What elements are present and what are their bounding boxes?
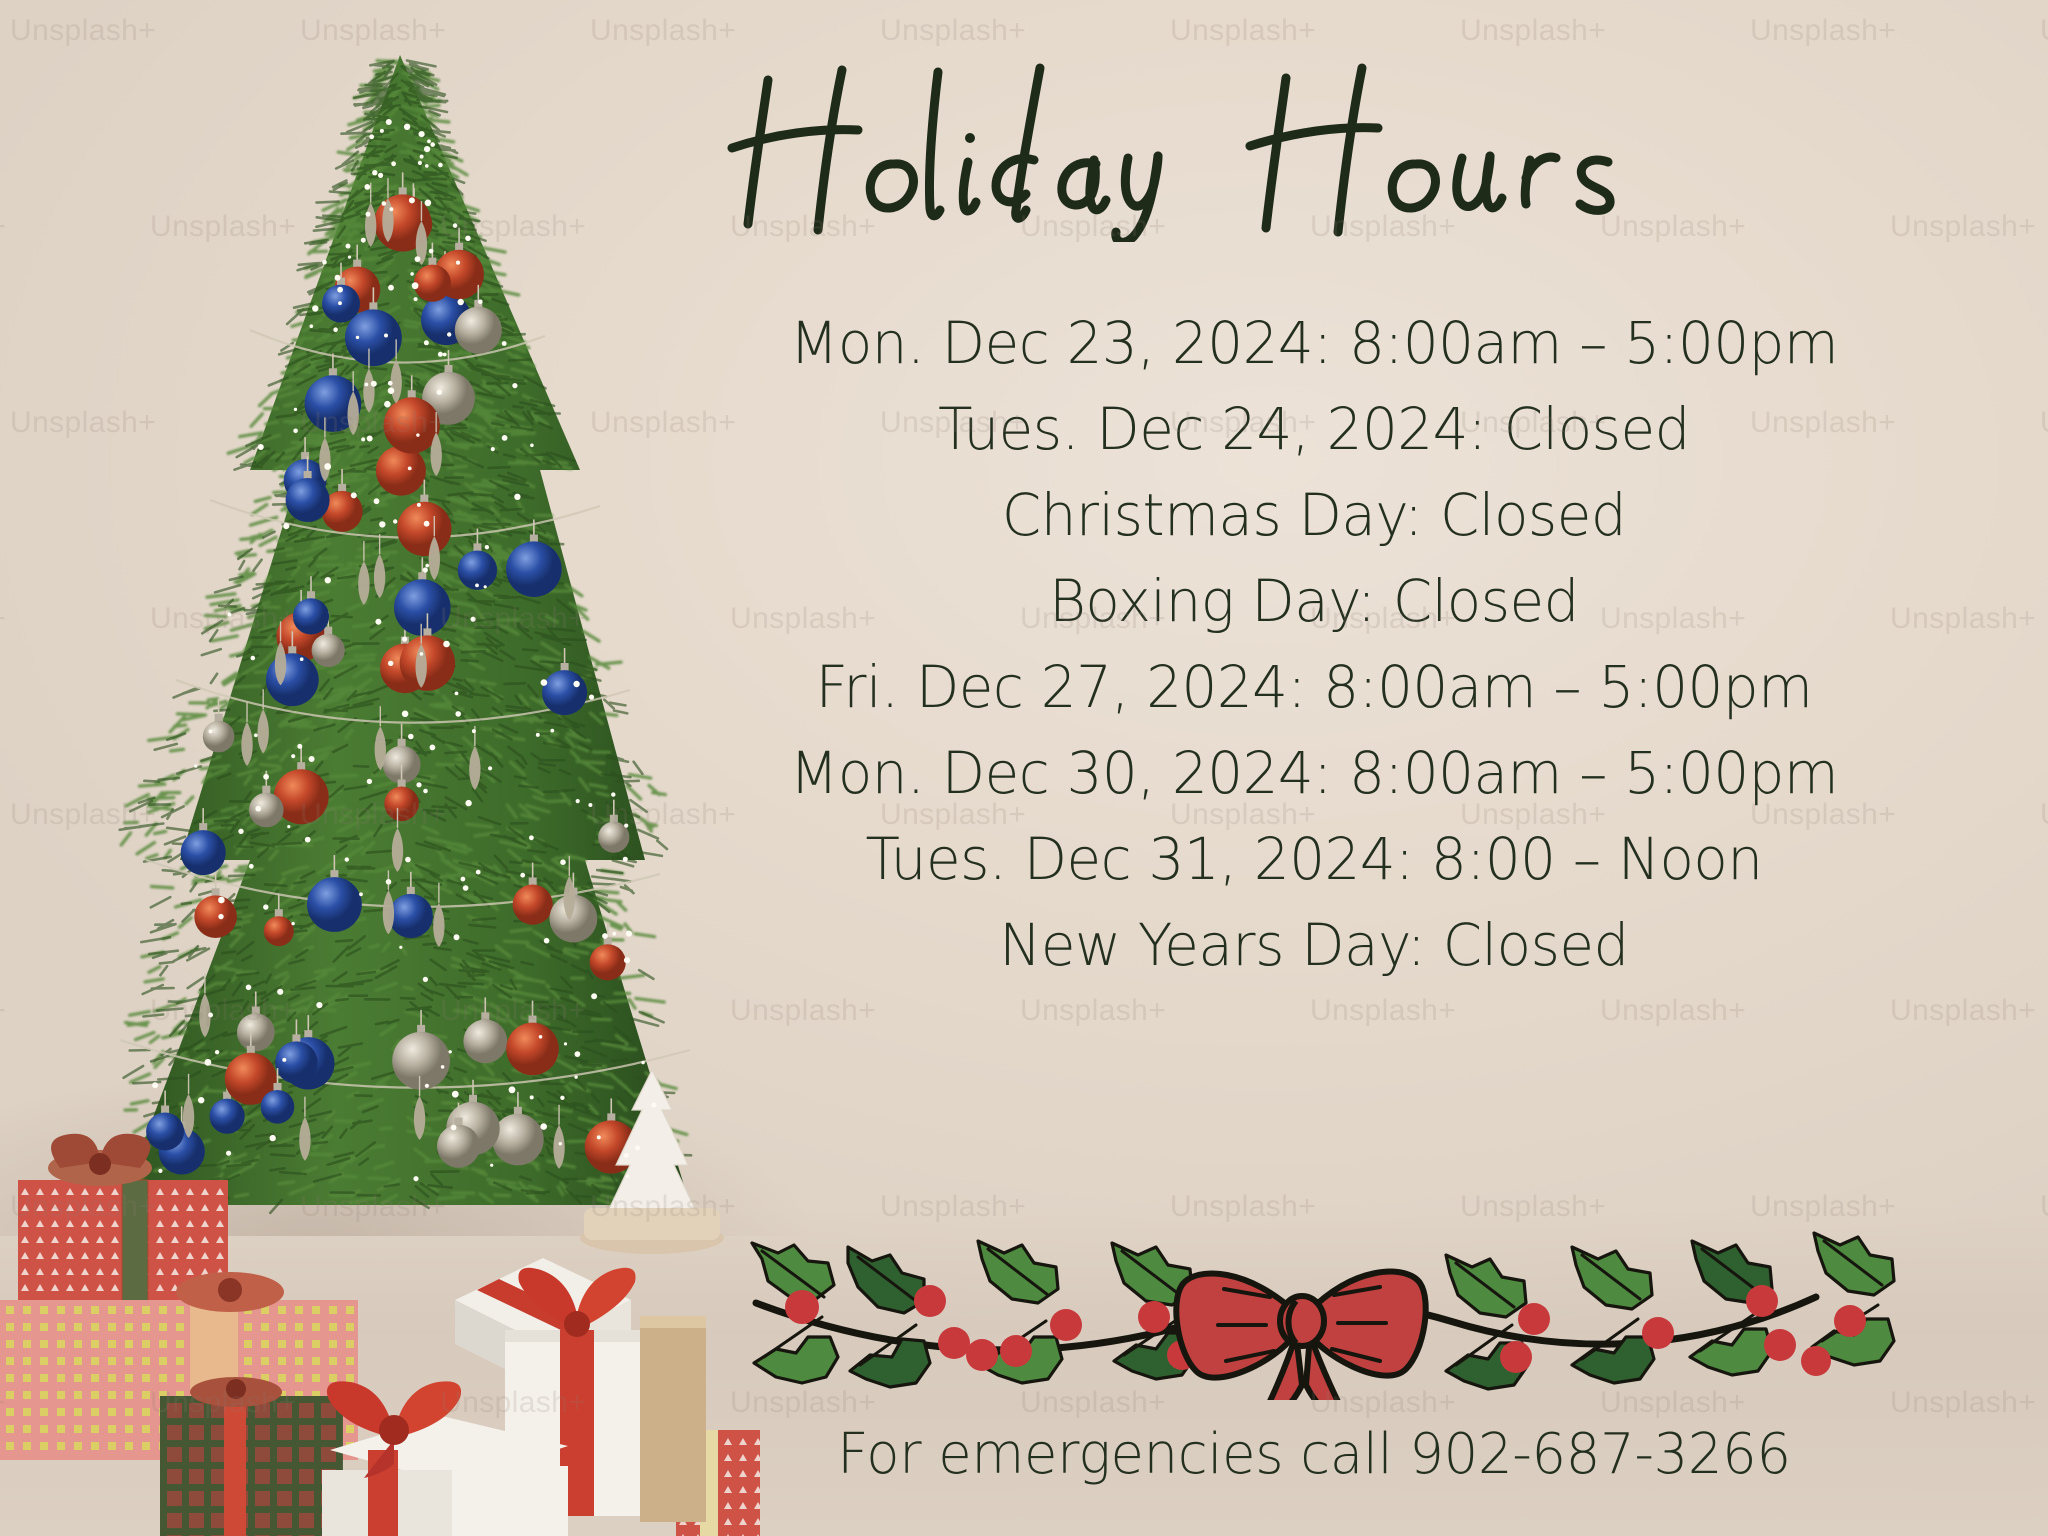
hours-list: Mon. Dec 23, 2024: 8:00am – 5:00pm Tues.… <box>580 300 2048 988</box>
hours-row: New Years Day: Closed <box>602 902 2026 988</box>
poster-canvas: Mon. Dec 23, 2024: 8:00am – 5:00pm Tues.… <box>0 0 2048 1536</box>
page-title <box>580 52 2048 242</box>
holly-garland-svg <box>730 1185 1910 1400</box>
emergency-line: For emergencies call 902-687-3266 <box>602 1420 2026 1490</box>
hours-row: Mon. Dec 23, 2024: 8:00am – 5:00pm <box>602 300 2026 386</box>
hours-panel: Mon. Dec 23, 2024: 8:00am – 5:00pm Tues.… <box>580 0 2048 1536</box>
hours-row: Fri. Dec 27, 2024: 8:00am – 5:00pm <box>602 644 2026 730</box>
hours-row: Tues. Dec 31, 2024: 8:00 – Noon <box>602 816 2026 902</box>
title-script-svg <box>724 52 1904 242</box>
hours-row: Mon. Dec 30, 2024: 8:00am – 5:00pm <box>602 730 2026 816</box>
hours-row: Boxing Day: Closed <box>602 558 2026 644</box>
hours-row: Christmas Day: Closed <box>602 472 2026 558</box>
hours-row: Tues. Dec 24, 2024: Closed <box>602 386 2026 472</box>
holly-garland-icon <box>730 1185 1910 1400</box>
